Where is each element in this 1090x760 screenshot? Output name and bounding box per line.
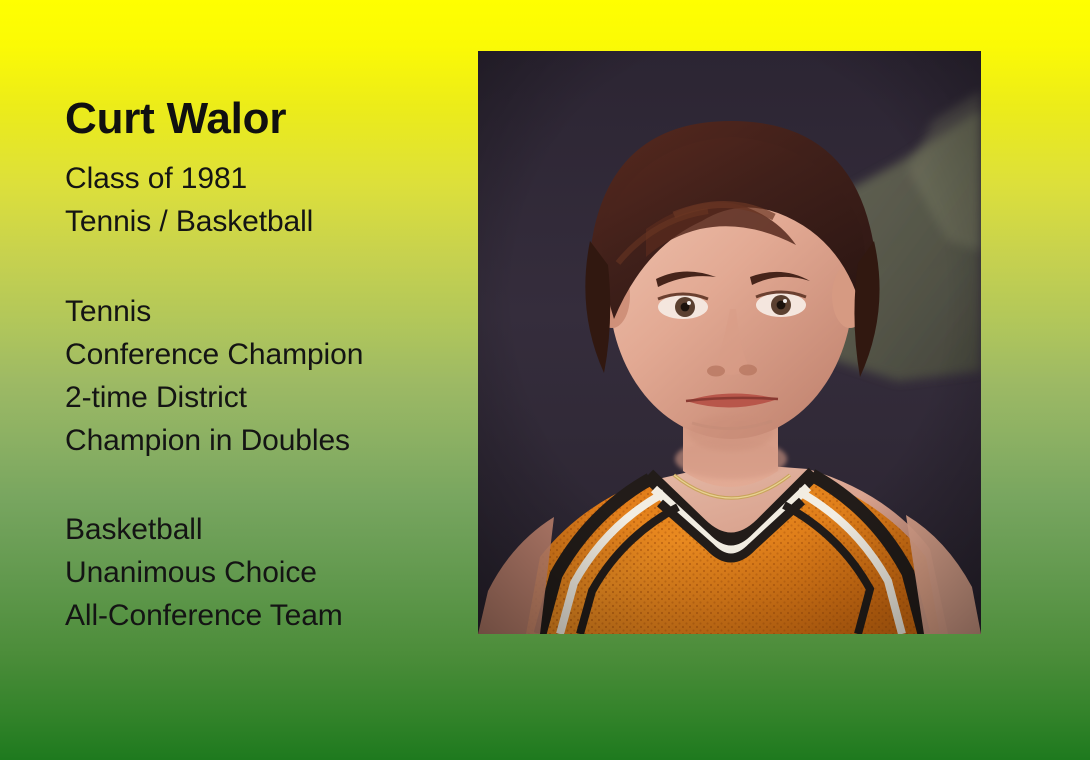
page-title: Curt Walor: [65, 96, 465, 143]
spacer-one: [65, 243, 465, 290]
honoree-text-column: Curt Walor Class of 1981 Tennis / Basket…: [65, 96, 465, 637]
achievement-line-tennis-2: 2-time District: [65, 376, 465, 419]
achievement-block-tennis: Tennis Conference Champion 2-time Distri…: [65, 290, 465, 462]
spacer-two: [65, 462, 465, 508]
honoree-identity-block: Class of 1981 Tennis / Basketball: [65, 157, 465, 243]
honoree-portrait-photo: [478, 51, 981, 634]
class-year-line: Class of 1981: [65, 157, 465, 200]
achievement-line-tennis-1: Conference Champion: [65, 333, 465, 376]
achievement-line-tennis-3: Champion in Doubles: [65, 419, 465, 462]
sports-line: Tennis / Basketball: [65, 200, 465, 243]
achievement-sport-heading-basketball: Basketball: [65, 508, 465, 551]
achievement-line-basketball-1: Unanimous Choice: [65, 551, 465, 594]
achievement-sport-heading-tennis: Tennis: [65, 290, 465, 333]
portrait-illustration: [478, 51, 981, 634]
achievement-block-basketball: Basketball Unanimous Choice All-Conferen…: [65, 508, 465, 637]
presentation-slide: Curt Walor Class of 1981 Tennis / Basket…: [0, 0, 1090, 760]
achievement-line-basketball-2: All-Conference Team: [65, 594, 465, 637]
